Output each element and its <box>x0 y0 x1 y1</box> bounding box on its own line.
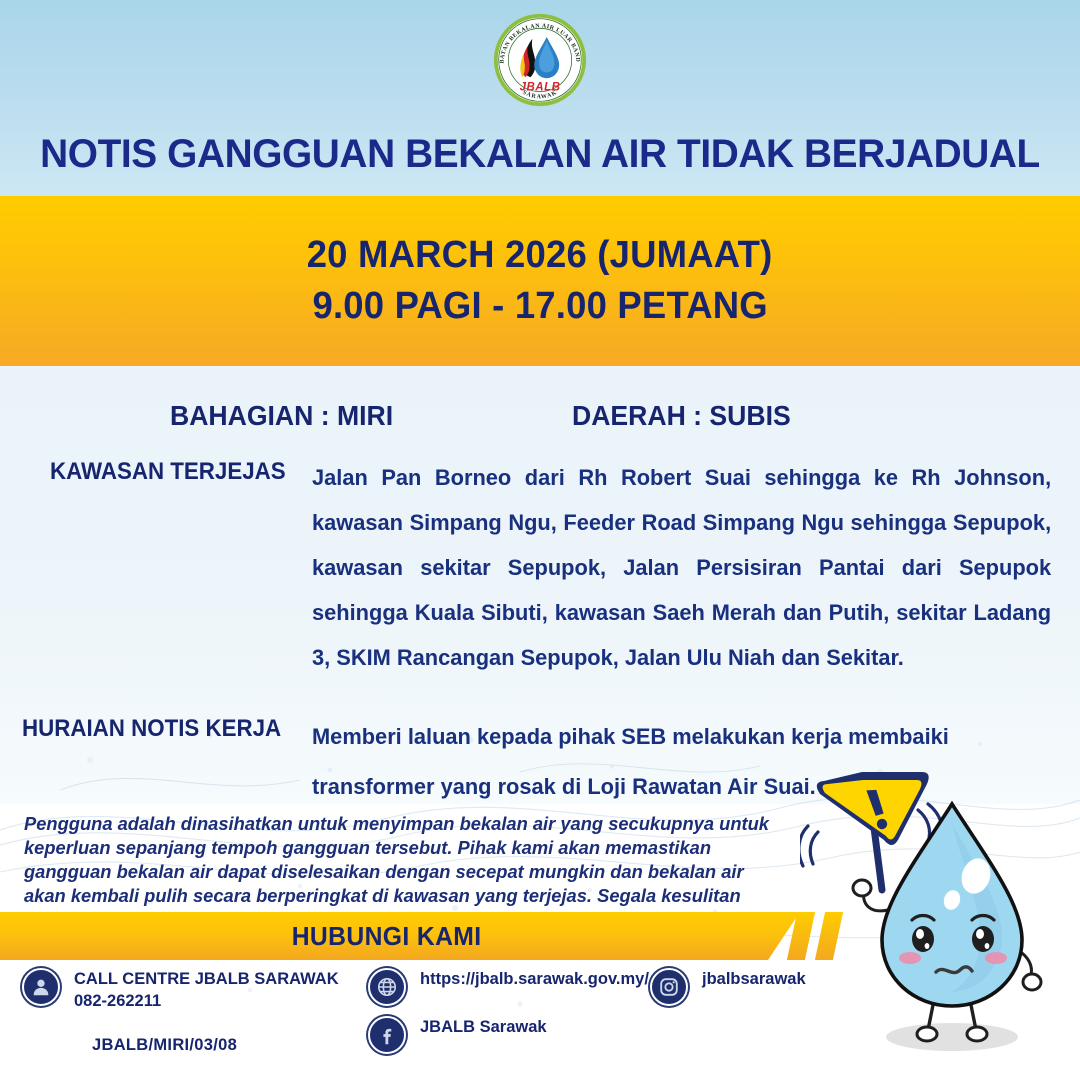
water-droplet-mascot <box>800 772 1080 1072</box>
contact-facebook[interactable]: JBALB Sarawak <box>368 1016 547 1054</box>
division-label: BAHAGIAN : MIRI <box>170 400 393 432</box>
call-centre-title: CALL CENTRE JBALB SARAWAK <box>74 970 339 988</box>
notice-date: 20 MARCH 2026 (JUMAAT) <box>307 234 773 277</box>
svg-text:JBALB: JBALB <box>520 82 561 94</box>
contact-instagram[interactable]: jbalbsarawak <box>650 968 806 1006</box>
jbalb-logo: JABATAN BEKALAN AIR LUAR BANDAR SARAWAK … <box>492 12 588 108</box>
person-icon <box>22 968 60 1006</box>
contact-call-centre[interactable]: CALL CENTRE JBALB SARAWAK 082-262211 <box>22 968 339 1012</box>
call-centre-phone: 082-262211 <box>74 990 339 1012</box>
facebook-icon <box>368 1016 406 1054</box>
notice-time: 9.00 PAGI - 17.00 PETANG <box>312 285 767 328</box>
website-url: https://jbalb.sarawak.gov.my/ <box>420 968 649 990</box>
contact-website[interactable]: https://jbalb.sarawak.gov.my/ <box>368 968 649 1006</box>
header-band: JABATAN BEKALAN AIR LUAR BANDAR SARAWAK … <box>0 0 1080 196</box>
instagram-handle: jbalbsarawak <box>702 968 806 990</box>
facebook-handle: JBALB Sarawak <box>420 1016 547 1038</box>
contact-bar: HUBUNGI KAMI <box>0 912 800 960</box>
affected-areas-text: Jalan Pan Borneo dari Rh Robert Suai seh… <box>312 455 1051 680</box>
work-description-label: HURAIAN NOTIS KERJA <box>22 715 281 743</box>
notice-poster: JABATAN BEKALAN AIR LUAR BANDAR SARAWAK … <box>0 0 1080 1080</box>
date-band: 20 MARCH 2026 (JUMAAT) 9.00 PAGI - 17.00… <box>0 196 1080 366</box>
contact-bar-label: HUBUNGI KAMI <box>292 921 482 952</box>
location-row: BAHAGIAN : MIRI DAERAH : SUBIS <box>0 400 1080 440</box>
instagram-icon <box>650 968 688 1006</box>
page-title: NOTIS GANGGUAN BEKALAN AIR TIDAK BERJADU… <box>16 132 1064 177</box>
reference-code: JBALB/MIRI/03/08 <box>92 1036 237 1055</box>
globe-icon <box>368 968 406 1006</box>
affected-areas-label: KAWASAN TERJEJAS <box>50 458 286 486</box>
jbalb-logo-icon: JABATAN BEKALAN AIR LUAR BANDAR SARAWAK … <box>492 12 588 108</box>
district-label: DAERAH : SUBIS <box>572 400 791 432</box>
